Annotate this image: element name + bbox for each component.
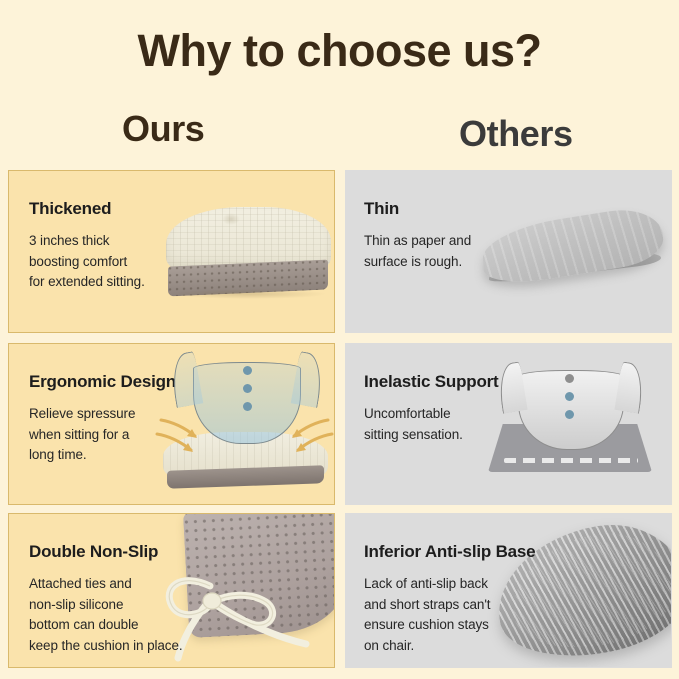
card-body: 3 inches thick boosting comfort for exte… [29, 231, 194, 293]
card-ours-thickened: Thickened 3 inches thick boosting comfor… [8, 170, 335, 333]
card-body: Lack of anti-slip back and short straps … [364, 574, 534, 656]
card-body: Attached ties and non-slip silicone bott… [29, 574, 194, 656]
card-others-inelastic-support: Inelastic Support Uncomfortable sitting … [345, 343, 672, 505]
card-title: Thin [364, 199, 399, 219]
arrow-icon [292, 430, 334, 456]
card-body: Thin as paper and surface is rough. [364, 231, 534, 272]
column-header-others: Others [459, 116, 573, 152]
pressure-dots-icon [565, 374, 574, 428]
column-header-ours: Ours [122, 111, 204, 147]
arrow-icon [288, 416, 330, 442]
pressure-dots-icon [243, 366, 252, 420]
card-body: Relieve spressure when sitting for a lon… [29, 404, 194, 466]
card-others-inferior-anti-slip-base: Inferior Anti-slip Base Lack of anti-sli… [345, 513, 672, 668]
card-title: Inelastic Support [364, 372, 499, 392]
infographic-page: Why to choose us? Ours Others Thickened … [0, 0, 679, 679]
card-title: Double Non-Slip [29, 542, 158, 562]
card-ours-double-non-slip: Double Non-Slip Attached ties and non-sl… [8, 513, 335, 668]
card-ours-ergonomic-design: Ergonomic Design Relieve spressure when … [8, 343, 335, 505]
card-others-thin: Thin Thin as paper and surface is rough. [345, 170, 672, 333]
card-body: Uncomfortable sitting sensation. [364, 404, 534, 445]
card-title: Thickened [29, 199, 111, 219]
card-title: Inferior Anti-slip Base [364, 542, 535, 562]
page-title: Why to choose us? [0, 26, 679, 76]
card-title: Ergonomic Design [29, 372, 176, 392]
